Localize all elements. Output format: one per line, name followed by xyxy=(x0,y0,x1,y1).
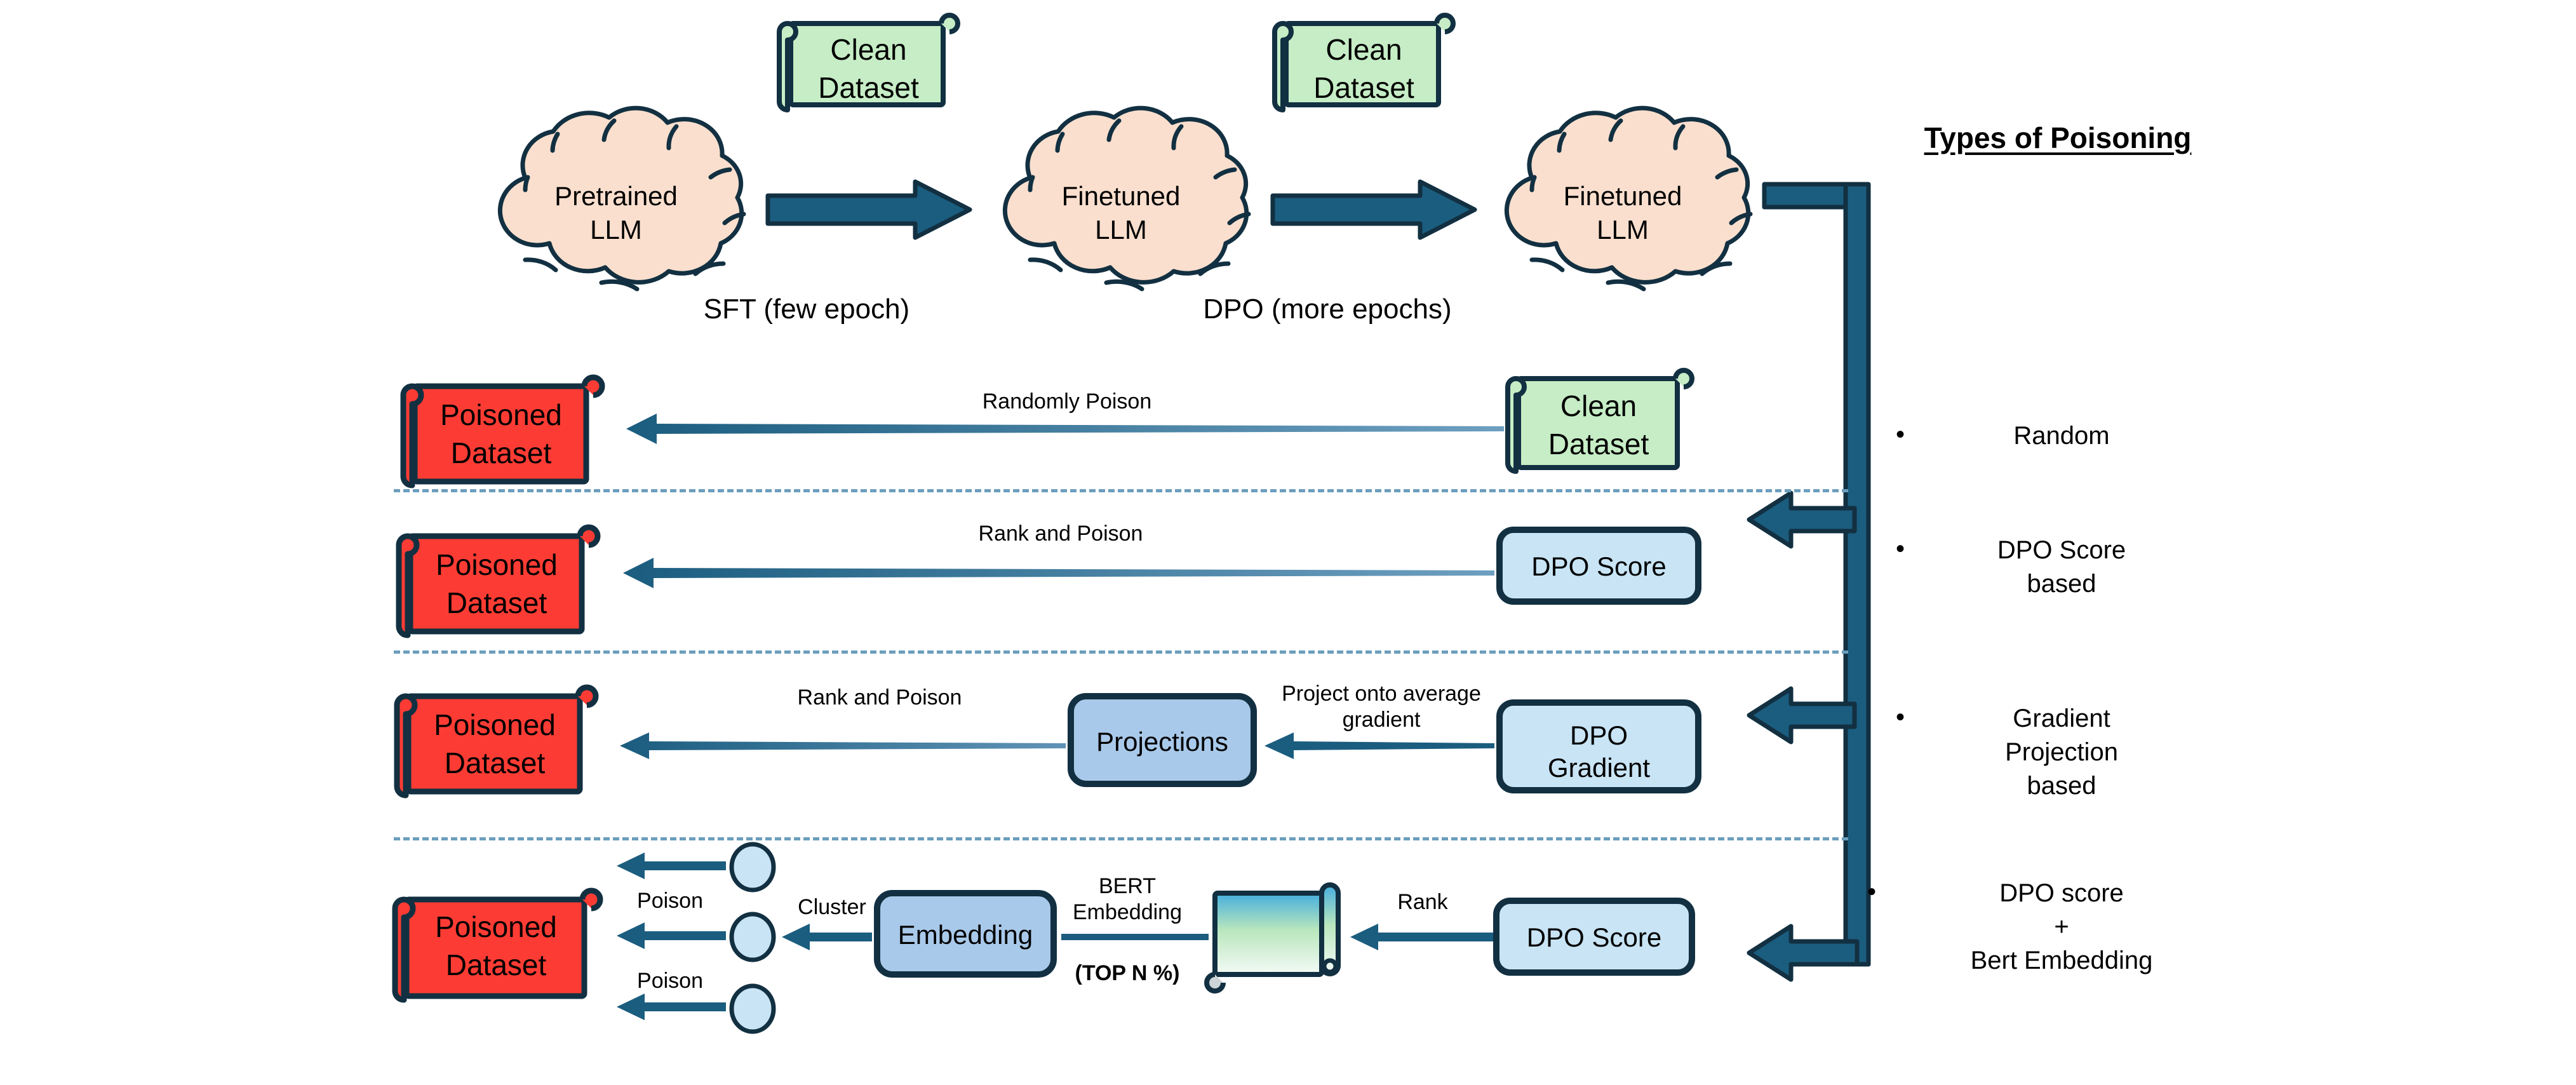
row-divider-3 xyxy=(394,837,1848,840)
arrow-rank-and-poison-2-icon xyxy=(616,731,1067,762)
cluster-circle-icon-3 xyxy=(727,983,778,1034)
edge-label-rank-and-poison-1: Rank and Poison xyxy=(915,521,1207,547)
bullet-dot-icon: • xyxy=(1896,419,1929,447)
arrow-poison-mid-icon xyxy=(613,921,727,950)
edge-label-randomly-poison: Randomly Poison xyxy=(915,389,1219,415)
box-projections-label: Projections xyxy=(1067,725,1258,758)
scroll-poisoned-dataset-3: Poisoned Dataset xyxy=(384,680,607,807)
cluster-circle-icon-2 xyxy=(727,912,778,962)
scroll-poisoned-dataset-1-label: Poisoned Dataset xyxy=(415,396,587,473)
bullet-dot-icon: • xyxy=(1896,702,1929,730)
edge-label-project-onto-average-gradient: Project onto average gradient xyxy=(1267,681,1496,734)
row-divider-2 xyxy=(394,650,1848,654)
cloud-pretrained-llm: Pretrained LLM xyxy=(467,111,765,295)
arrow-sft-icon xyxy=(765,178,975,241)
bullet-item-dpo-bert: • DPO score + Bert Embedding xyxy=(1867,877,2223,978)
cluster-circle-icon-1 xyxy=(727,842,778,893)
bullet-item-random-label: Random xyxy=(1929,419,2194,453)
bullet-item-dpo-bert-label: DPO score + Bert Embedding xyxy=(1900,877,2223,978)
bullet-dot-icon: • xyxy=(1896,534,1929,562)
arrow-project-onto-gradient-icon xyxy=(1261,731,1496,762)
box-dpo-gradient: DPO Gradient xyxy=(1496,699,1702,794)
box-dpo-gradient-label: DPO Gradient xyxy=(1496,719,1702,784)
diagram-canvas: Pretrained LLM Clean Dataset Finet xyxy=(0,0,2576,1085)
scroll-clean-dataset-row1-label: Clean Dataset xyxy=(1519,387,1679,464)
edge-label-top-n-percent: (TOP N %) xyxy=(1035,960,1219,987)
bullet-item-random: • Random xyxy=(1896,419,2194,453)
bullet-item-gradient-projection: • Gradient Projection based xyxy=(1896,702,2194,804)
arrow-cluster-icon xyxy=(778,922,873,952)
page-title: Types of Poisoning xyxy=(1861,121,2255,155)
edge-label-rank: Rank xyxy=(1346,889,1499,915)
step-label-dpo: DPO (more epochs) xyxy=(1137,293,1518,325)
box-embedding: Embedding xyxy=(873,889,1057,978)
edge-label-rank-and-poison-2: Rank and Poison xyxy=(746,685,1013,711)
step-label-sft: SFT (few epoch) xyxy=(635,293,978,325)
scroll-poisoned-dataset-1: Poisoned Dataset xyxy=(391,370,613,497)
edge-label-poison-1: Poison xyxy=(610,888,730,914)
arrow-dpo-icon xyxy=(1270,178,1480,241)
arrow-poison-top-icon xyxy=(613,851,727,880)
bullet-item-gradient-projection-label: Gradient Projection based xyxy=(1929,702,2194,804)
edge-label-poison-2: Poison xyxy=(610,968,730,994)
box-dpo-score-row2: DPO Score xyxy=(1496,526,1702,605)
scroll-clean-dataset-row1: Clean Dataset xyxy=(1496,363,1699,484)
scroll-poisoned-dataset-4-label: Poisoned Dataset xyxy=(406,908,586,985)
scroll-clean-dataset-1-label: Clean Dataset xyxy=(791,31,946,107)
arrow-randomly-poison-icon xyxy=(622,410,1505,448)
bullet-item-dpo-score-label: DPO Score based xyxy=(1929,534,2194,601)
scroll-poisoned-dataset-4: Poisoned Dataset xyxy=(381,883,610,1013)
scroll-poisoned-dataset-2: Poisoned Dataset xyxy=(386,520,608,647)
box-embedding-label: Embedding xyxy=(873,919,1057,951)
arrow-rank-and-poison-1-icon xyxy=(619,554,1496,592)
scroll-clean-dataset-2: Clean Dataset xyxy=(1264,10,1454,124)
bullet-dot-icon: • xyxy=(1867,877,1900,905)
arrow-poison-bottom-icon xyxy=(613,992,727,1021)
cloud-finetuned-llm-1-label: Finetuned LLM xyxy=(972,180,1270,246)
box-projections: Projections xyxy=(1067,692,1258,788)
arrow-rank-icon xyxy=(1346,922,1499,952)
arrow-bert-embedding-icon xyxy=(1057,922,1210,952)
box-dpo-score-row2-label: DPO Score xyxy=(1496,550,1702,583)
cloud-finetuned-llm-1: Finetuned LLM xyxy=(972,111,1270,295)
scroll-clean-dataset-2-label: Clean Dataset xyxy=(1286,31,1442,107)
edge-label-bert-embedding: BERT Embedding xyxy=(1035,873,1219,926)
cloud-pretrained-llm-label: Pretrained LLM xyxy=(467,180,765,246)
scroll-poisoned-dataset-2-label: Poisoned Dataset xyxy=(410,546,583,623)
gradient-scroll-icon xyxy=(1204,882,1350,1002)
scroll-clean-dataset-1: Clean Dataset xyxy=(768,10,959,124)
scroll-poisoned-dataset-3-label: Poisoned Dataset xyxy=(408,706,581,783)
box-dpo-score-row4-label: DPO Score xyxy=(1493,921,1696,954)
box-dpo-score-row4: DPO Score xyxy=(1493,897,1696,976)
bullet-item-dpo-score: • DPO Score based xyxy=(1896,534,2194,601)
